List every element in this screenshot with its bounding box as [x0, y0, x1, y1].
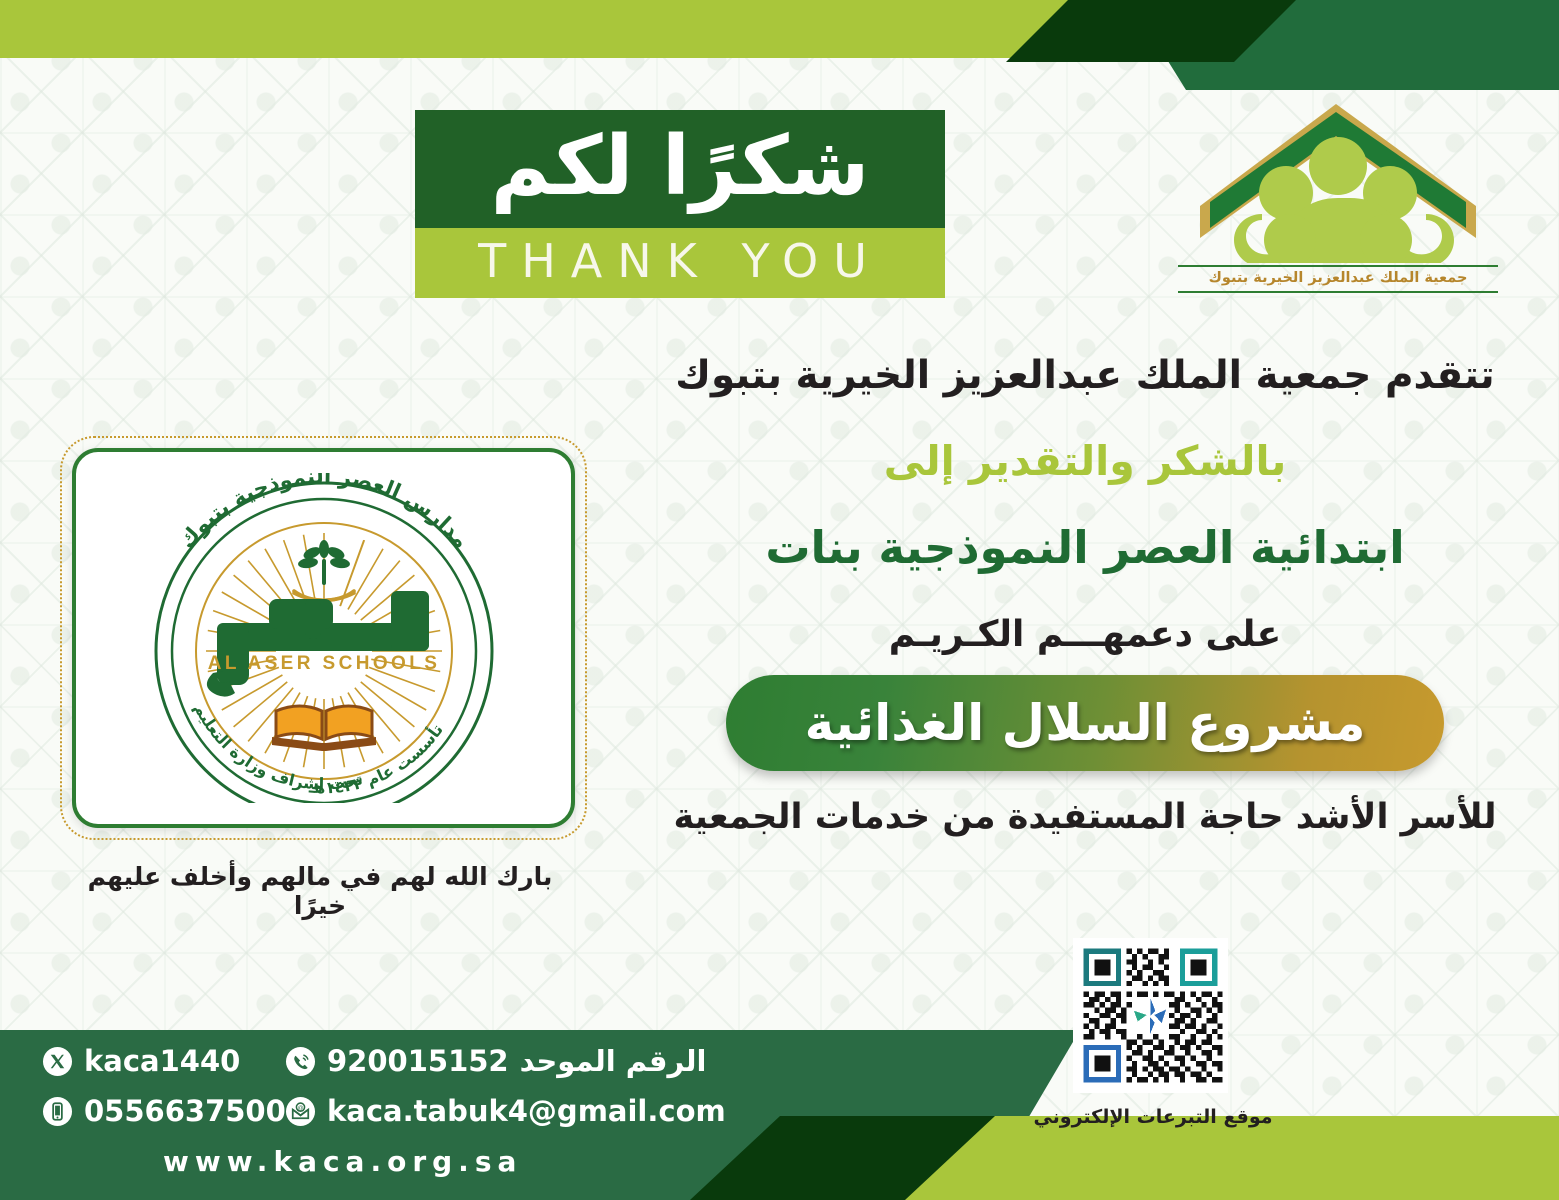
contact-x[interactable]: kaca1440 — [42, 1044, 277, 1078]
gratitude-line: بالشكر والتقدير إلى — [635, 437, 1535, 485]
school-emblem-icon: AL ASER SCHOOLS مدارس العصر النموذجية بت… — [109, 473, 539, 803]
x-twitter-icon[interactable] — [42, 1046, 73, 1077]
website-url: www.kaca.org.sa — [163, 1145, 522, 1178]
association-logo: جمعية الملك عبدالعزيز الخيرية بتبوك — [1178, 88, 1498, 303]
association-name: جمعية الملك عبدالعزيز الخيرية بتبوك — [1178, 265, 1498, 293]
qr-code-icon[interactable] — [1073, 938, 1228, 1093]
thank-you-english: THANK YOU — [415, 228, 945, 298]
mobile-number: 0556637500 — [84, 1094, 286, 1128]
contact-mobile[interactable]: 0556637500 — [42, 1094, 277, 1128]
school-name-en: AL ASER SCHOOLS — [207, 653, 440, 674]
mobile-phone-icon[interactable] — [42, 1096, 73, 1127]
project-title-badge: مشروع السلال الغذائية — [726, 675, 1444, 771]
bottom-olive-band — [905, 1116, 1559, 1200]
contact-unified-number[interactable]: 920015152 الرقم الموحد — [285, 1044, 706, 1078]
school-caption: بارك الله لهم في مالهم وأخلف عليهم خيرًا — [60, 862, 580, 920]
thank-you-block: شكرًا لكم THANK YOU — [415, 110, 945, 298]
recipient-name: ابتدائية العصر النموذجية بنات — [635, 521, 1535, 574]
school-wordmark — [206, 591, 428, 697]
contact-row-3: www.kaca.org.sa — [0, 1138, 760, 1184]
school-logo-card: AL ASER SCHOOLS مدارس العصر النموذجية بت… — [72, 448, 575, 828]
email-address: kaca.tabuk4@gmail.com — [327, 1094, 726, 1128]
unified-number-label: الرقم الموحد — [520, 1044, 707, 1078]
contact-website[interactable]: www.kaca.org.sa — [150, 1145, 522, 1178]
support-line: على دعمهـــم الكـريـم — [635, 614, 1535, 655]
qr-caption: موقع التبرعات الإلكتروني — [1018, 1106, 1288, 1128]
contact-block: kaca1440 920015152 الرقم الموحد — [0, 1038, 760, 1188]
unified-number: 920015152 — [327, 1044, 509, 1078]
thank-you-arabic: شكرًا لكم — [415, 110, 945, 228]
qr-code-block[interactable] — [1073, 938, 1228, 1097]
envelope-at-icon[interactable]: @ — [285, 1096, 316, 1127]
beneficiary-line: للأسر الأشد حاجة المستفيدة من خدمات الجم… — [635, 797, 1535, 837]
intro-line: تتقدم جمعية الملك عبدالعزيز الخيرية بتبو… — [635, 350, 1535, 403]
svg-text:@: @ — [298, 1105, 304, 1111]
top-olive-band — [0, 0, 1120, 58]
house-family-logo-icon — [1178, 88, 1498, 263]
contact-row-1: kaca1440 920015152 الرقم الموحد — [0, 1038, 760, 1084]
poster-canvas: شكرًا لكم THANK YOU جمعية الملك عبدالعزي… — [0, 0, 1559, 1200]
project-title-text: مشروع السلال الغذائية — [805, 694, 1366, 752]
message-column: تتقدم جمعية الملك عبدالعزيز الخيرية بتبو… — [635, 350, 1535, 837]
x-handle: kaca1440 — [84, 1044, 240, 1078]
contact-email[interactable]: @ kaca.tabuk4@gmail.com — [285, 1094, 726, 1128]
phone-ring-icon[interactable] — [285, 1046, 316, 1077]
contact-row-2: 0556637500 @ kaca.tabuk4@gmail.com — [0, 1088, 760, 1134]
